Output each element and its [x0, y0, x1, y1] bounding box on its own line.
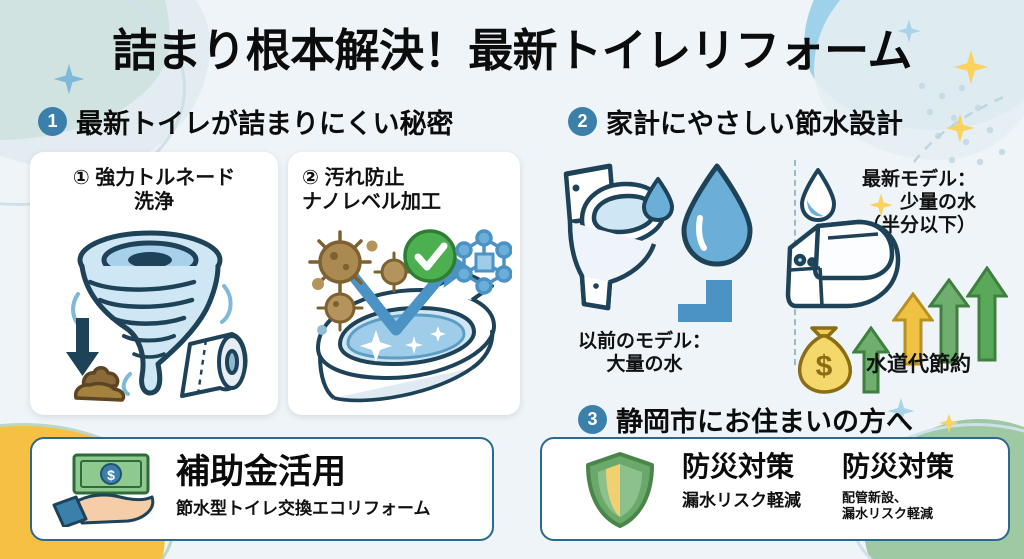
nano-coating-illustration: [296, 226, 512, 406]
svg-text:$: $: [107, 467, 115, 483]
sparkle-icon: [944, 112, 976, 144]
bousai-left-title: 防災対策: [682, 453, 801, 481]
tornado-illustration: [42, 224, 266, 406]
up-arrow-icon: [966, 266, 1008, 362]
section-header-2: 2 家計にやさしい節水設計: [568, 102, 903, 141]
infographic-canvas: 詰まり根本解決！最新トイレリフォーム 1 最新トイレが詰まりにくい秘密 2 家計…: [0, 0, 1024, 559]
old-model-caption: 以前のモデル： 大量の水: [578, 330, 711, 376]
feature-marker: ②: [302, 167, 319, 189]
feature-title-line2: ナノレベル加工: [302, 191, 441, 213]
section-title-2: 家計にやさしい節水設計: [606, 102, 903, 141]
old-model-caption-line1: 以前のモデル：: [578, 330, 711, 353]
subsidy-subtitle: 節水型トイレ交換エコリフォーム: [176, 499, 431, 519]
svg-text:$: $: [816, 350, 833, 383]
section-title-3: 静岡市にお住まいの方へ: [616, 400, 913, 439]
feature-title-line1: 汚れ防止: [325, 167, 405, 189]
section-title-1: 最新トイレが詰まりにくい秘密: [76, 102, 453, 141]
section-header-3: 3 静岡市にお住まいの方へ: [578, 400, 913, 439]
feature-card-nano-title: ② 汚れ防止 ナノレベル加工: [288, 166, 441, 215]
bousai-right-title: 防災対策: [842, 453, 954, 481]
bousai-right-subtitle-line2: 漏水リスク軽減: [842, 506, 954, 522]
large-water-drop-icon: [676, 160, 758, 270]
feature-card-nano: ② 汚れ防止 ナノレベル加工: [288, 152, 520, 415]
old-model-caption-line2: 大量の水: [578, 353, 711, 376]
feature-card-tornado-title: ① 強力トルネード 洗浄: [30, 166, 278, 215]
new-model-caption-line1: 最新モデル：: [862, 168, 976, 191]
modern-toilet-icon: [784, 212, 906, 324]
feature-title-line2: 洗浄: [134, 191, 174, 213]
bousai-banner[interactable]: 防災対策 漏水リスク軽減 防災対策 配管新設、 漏水リスク軽減: [540, 437, 1010, 541]
new-model-caption-line2: 少量の水: [862, 191, 976, 214]
feature-marker: ①: [73, 167, 90, 189]
feature-title-line1: 強力トルネード: [95, 167, 235, 189]
hand-with-money-icon: $: [52, 453, 164, 527]
bousai-left-subtitle: 漏水リスク軽減: [682, 491, 801, 511]
check-circle-icon: [405, 231, 455, 281]
small-water-drop-icon: [640, 176, 676, 222]
section-header-1: 1 最新トイレが詰まりにくい秘密: [38, 102, 453, 141]
subsidy-banner[interactable]: $ 補助金活用 節水型トイレ交換エコリフォーム: [30, 437, 494, 541]
page-title: 詰まり根本解決！最新トイレリフォーム: [0, 14, 1024, 79]
feature-card-tornado: ① 強力トルネード 洗浄: [30, 152, 278, 415]
section-badge-2: 2: [568, 107, 597, 136]
shield-icon: [584, 451, 656, 529]
water-savings-label: 水道代節約: [866, 352, 971, 378]
section-badge-1: 1: [38, 107, 67, 136]
section-badge-3: 3: [578, 405, 607, 434]
level-bar-icon: [676, 280, 738, 328]
subsidy-title: 補助金活用: [176, 455, 431, 489]
toilet-paper-icon: [182, 334, 246, 396]
down-arrow-icon: [66, 318, 99, 376]
decorative-dots: [908, 74, 1018, 170]
bousai-right-subtitle-line1: 配管新設、: [842, 490, 954, 506]
